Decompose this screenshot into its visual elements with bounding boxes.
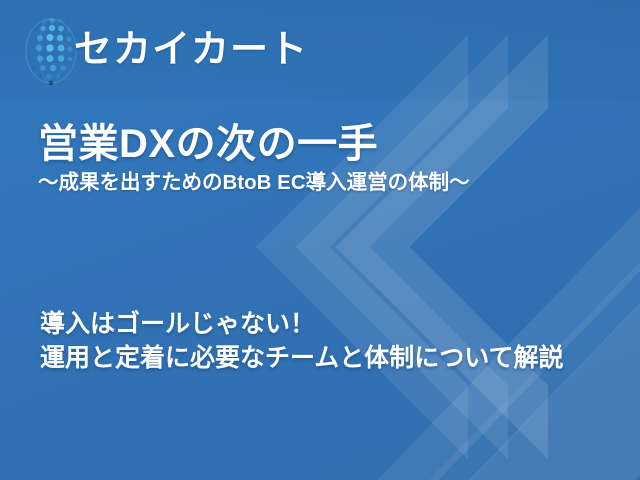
brand-name: セカイカート [74, 31, 308, 69]
body-block: 導入はゴールじゃない！ 運用と定着に必要なチームと体制について解説 [40, 308, 630, 375]
page-title: 営業DXの次の一手 [38, 122, 618, 167]
slide-canvas: セカイカート 営業DXの次の一手 〜成果を出すためのBtoB EC導入運営の体制… [0, 0, 640, 480]
body-line-1: 導入はゴールじゃない！ [40, 308, 630, 342]
slide-header: セカイカート [0, 0, 640, 100]
page-subtitle: 〜成果を出すためのBtoB EC導入運営の体制〜 [38, 171, 618, 196]
brand-logo: セカイカート [22, 13, 308, 87]
title-block: 営業DXの次の一手 〜成果を出すためのBtoB EC導入運営の体制〜 [38, 122, 618, 195]
body-line-2: 運用と定着に必要なチームと体制について解説 [40, 342, 630, 376]
